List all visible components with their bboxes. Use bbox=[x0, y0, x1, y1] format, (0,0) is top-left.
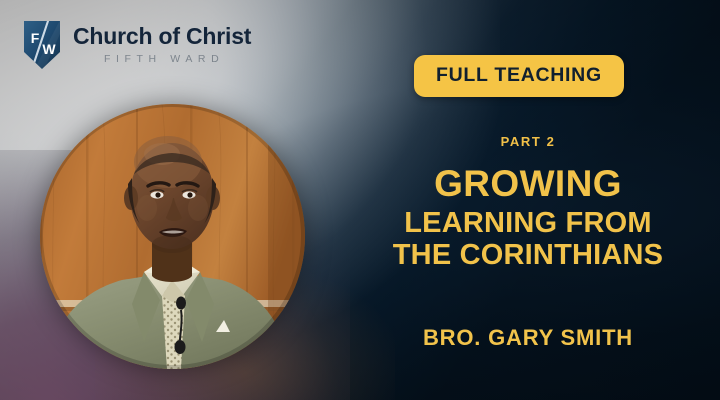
title-block: PART 2 GROWING LEARNING FROM THE CORINTH… bbox=[336, 134, 720, 272]
logo-letter-w: W bbox=[42, 41, 56, 57]
title-line-2: LEARNING FROM bbox=[336, 207, 720, 239]
thumbnail-canvas: F W Church of Christ FIFTH WARD bbox=[0, 0, 720, 400]
brand-wordmark: Church of Christ FIFTH WARD bbox=[73, 25, 251, 65]
title-line-1: GROWING bbox=[336, 165, 720, 202]
part-label: PART 2 bbox=[336, 134, 720, 149]
brand-logo: F W Church of Christ FIFTH WARD bbox=[22, 20, 251, 70]
brand-tagline: FIFTH WARD bbox=[73, 54, 251, 65]
speaker-name: BRO. GARY SMITH bbox=[336, 325, 720, 351]
fw-shield-icon: F W bbox=[22, 20, 62, 70]
logo-letter-f: F bbox=[31, 30, 40, 46]
title-line-3: THE CORINTHIANS bbox=[336, 239, 720, 271]
portrait-image bbox=[40, 104, 305, 369]
brand-name: Church of Christ bbox=[73, 25, 251, 48]
full-teaching-badge[interactable]: FULL TEACHING bbox=[414, 55, 624, 97]
speaker-portrait bbox=[40, 104, 305, 369]
